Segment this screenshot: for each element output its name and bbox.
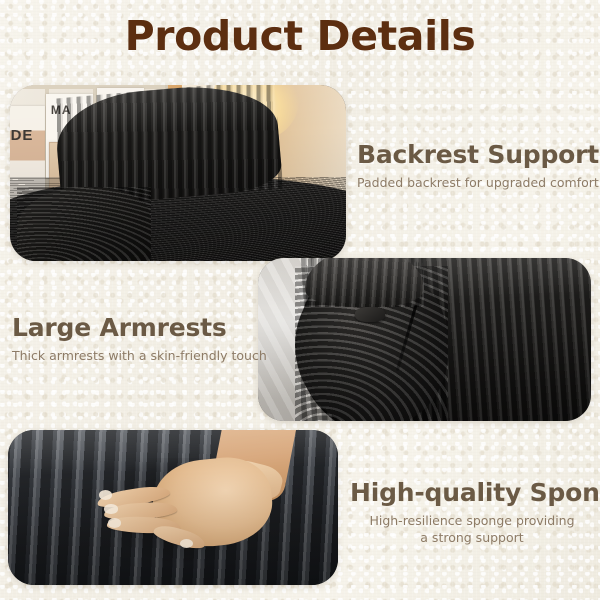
page-title: Product Details — [0, 13, 600, 59]
photo-backrest-support: DE MA — [10, 85, 346, 261]
fingernail — [180, 539, 193, 548]
corduroy-ribs — [305, 258, 425, 307]
fingernail — [108, 518, 121, 527]
text-block-armrests: Large Armrests Thick armrests with a ski… — [12, 313, 267, 364]
fabric-knot — [355, 307, 385, 322]
section-subtitle-backrest: Padded backrest for upgraded comfort — [357, 174, 599, 191]
image-panel-backrest: DE MA — [10, 85, 346, 261]
armrest-top — [305, 258, 425, 307]
page-background: Product Details DE MA — [0, 0, 600, 600]
chair-armrest — [17, 187, 151, 261]
text-block-sponge: High-quality Sponge High-resilience spon… — [350, 478, 594, 546]
section-heading-backrest: Backrest Support — [357, 140, 599, 170]
image-panel-armrests — [258, 258, 591, 421]
fingernail — [104, 504, 117, 513]
magazine-text-de: DE — [11, 127, 34, 144]
corduroy-ribs — [17, 187, 151, 261]
fingernail — [99, 490, 112, 499]
section-subtitle-sponge-line1: High-resilience sponge providing — [350, 512, 594, 529]
text-block-backrest: Backrest Support Padded backrest for upg… — [357, 140, 599, 191]
photo-high-quality-sponge — [8, 430, 338, 585]
section-heading-armrests: Large Armrests — [12, 313, 267, 343]
section-subtitle-sponge-line2: a strong support — [350, 529, 594, 546]
photo-large-armrests — [258, 258, 591, 421]
section-subtitle-armrests: Thick armrests with a skin-friendly touc… — [12, 347, 267, 364]
section-heading-sponge: High-quality Sponge — [350, 478, 594, 508]
image-panel-sponge — [8, 430, 338, 585]
